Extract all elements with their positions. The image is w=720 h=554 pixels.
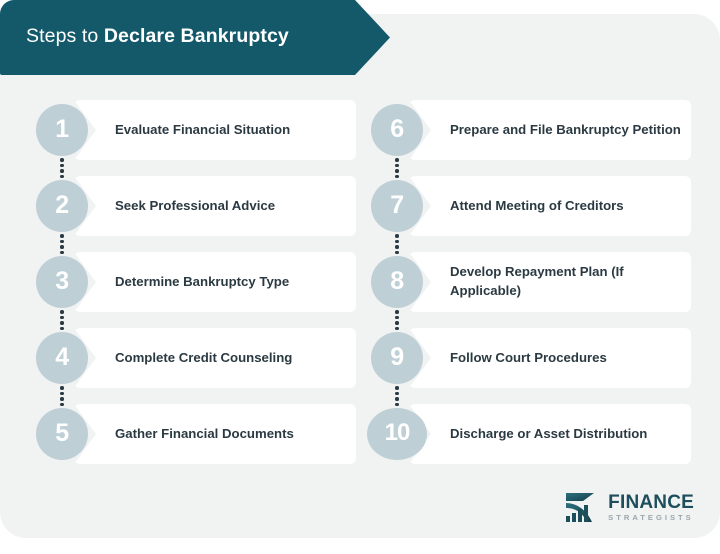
connector-dot [60, 316, 64, 320]
step-connector-dots [395, 386, 399, 406]
step-card: Prepare and File Bankruptcy Petition [409, 100, 691, 160]
step-connector-dots [60, 158, 64, 178]
connector-dot [395, 234, 399, 238]
step-card: Discharge or Asset Distribution [409, 404, 691, 464]
connector-dot [60, 321, 64, 325]
step-connector-dots [60, 234, 64, 254]
step-number-badge: 6 [371, 104, 423, 156]
header-banner: Steps to Declare Bankruptcy [0, 0, 390, 75]
step-item: Seek Professional Advice 2 [36, 176, 356, 236]
step-item: Prepare and File Bankruptcy Petition 6 [371, 100, 691, 160]
connector-dot [395, 386, 399, 390]
connector-dot [60, 251, 64, 255]
step-item: Evaluate Financial Situation 1 [36, 100, 356, 160]
step-item: Complete Credit Counseling 4 [36, 328, 356, 388]
step-number: 1 [55, 117, 68, 144]
steps-columns: Evaluate Financial Situation 1 Seek Prof… [0, 100, 720, 480]
step-number: 8 [390, 269, 403, 296]
page-title-bold: Declare Bankruptcy [104, 25, 289, 47]
page-title-light: Steps to [26, 25, 104, 47]
connector-dot [395, 403, 399, 407]
step-number-badge: 9 [371, 332, 423, 384]
steps-column-right: Prepare and File Bankruptcy Petition 6 A… [371, 100, 691, 480]
step-label: Complete Credit Counseling [74, 349, 302, 368]
step-number: 10 [385, 421, 410, 447]
connector-dot [395, 175, 399, 179]
step-card: Follow Court Procedures [409, 328, 691, 388]
step-label: Discharge or Asset Distribution [409, 425, 657, 444]
steps-column-left: Evaluate Financial Situation 1 Seek Prof… [36, 100, 356, 480]
connector-dot [60, 310, 64, 314]
logo-tagline: STRATEGISTS [608, 514, 694, 522]
step-number-badge: 8 [371, 256, 423, 308]
step-number-badge: 5 [36, 408, 88, 460]
step-connector-dots [60, 386, 64, 406]
step-card: Attend Meeting of Creditors [409, 176, 691, 236]
step-number-badge: 7 [371, 180, 423, 232]
step-item: Attend Meeting of Creditors 7 [371, 176, 691, 236]
step-connector-dots [60, 310, 64, 330]
step-item: Discharge or Asset Distribution 10 [371, 404, 691, 464]
connector-dot [395, 321, 399, 325]
step-card: Evaluate Financial Situation [74, 100, 356, 160]
step-card: Develop Repayment Plan (If Applicable) [409, 252, 691, 312]
connector-dot [60, 175, 64, 179]
connector-dot [60, 164, 64, 168]
step-card: Seek Professional Advice [74, 176, 356, 236]
step-label: Seek Professional Advice [74, 197, 285, 216]
connector-dot [395, 251, 399, 255]
step-number-badge: 3 [36, 256, 88, 308]
connector-dot [60, 327, 64, 331]
step-label: Prepare and File Bankruptcy Petition [409, 121, 691, 140]
step-item: Gather Financial Documents 5 [36, 404, 356, 464]
connector-dot [395, 164, 399, 168]
logo-name: FINANCE [608, 493, 694, 512]
step-label: Gather Financial Documents [74, 425, 304, 444]
connector-dot [60, 403, 64, 407]
finance-strategists-logo-icon [564, 491, 602, 524]
step-item: Develop Repayment Plan (If Applicable) 8 [371, 252, 691, 312]
connector-dot [395, 327, 399, 331]
step-connector-dots [395, 158, 399, 178]
step-number-badge: 4 [36, 332, 88, 384]
step-label: Determine Bankruptcy Type [74, 273, 299, 292]
connector-dot [60, 397, 64, 401]
step-card: Complete Credit Counseling [74, 328, 356, 388]
step-item: Follow Court Procedures 9 [371, 328, 691, 388]
connector-dot [60, 240, 64, 244]
step-number: 7 [390, 193, 403, 220]
connector-dot [60, 392, 64, 396]
connector-dot [395, 240, 399, 244]
step-number-badge: 2 [36, 180, 88, 232]
page-title: Steps to Declare Bankruptcy [0, 25, 289, 51]
step-connector-dots [395, 234, 399, 254]
connector-dot [395, 316, 399, 320]
connector-dot [60, 158, 64, 162]
connector-dot [60, 245, 64, 249]
step-label: Attend Meeting of Creditors [409, 197, 634, 216]
step-item: Determine Bankruptcy Type 3 [36, 252, 356, 312]
step-label: Follow Court Procedures [409, 349, 617, 368]
connector-dot [395, 169, 399, 173]
infographic-root: Steps to Declare Bankruptcy Evaluate Fin… [0, 0, 720, 554]
step-number: 6 [390, 117, 403, 144]
step-number: 9 [390, 345, 403, 372]
connector-dot [60, 169, 64, 173]
connector-dot [395, 158, 399, 162]
step-number: 3 [55, 269, 68, 296]
step-label: Evaluate Financial Situation [74, 121, 300, 140]
step-label: Develop Repayment Plan (If Applicable) [409, 263, 691, 300]
step-number-badge: 1 [36, 104, 88, 156]
step-number-badge: 10 [367, 408, 427, 460]
step-card: Gather Financial Documents [74, 404, 356, 464]
connector-dot [395, 245, 399, 249]
connector-dot [395, 397, 399, 401]
connector-dot [60, 234, 64, 238]
connector-dot [60, 386, 64, 390]
logo-wordmark: FINANCE STRATEGISTS [608, 493, 694, 522]
step-number: 5 [55, 421, 68, 448]
step-number: 2 [55, 193, 68, 220]
connector-dot [395, 392, 399, 396]
step-card: Determine Bankruptcy Type [74, 252, 356, 312]
step-connector-dots [395, 310, 399, 330]
step-number: 4 [55, 345, 68, 372]
brand-logo: FINANCE STRATEGISTS [564, 491, 694, 524]
connector-dot [395, 310, 399, 314]
